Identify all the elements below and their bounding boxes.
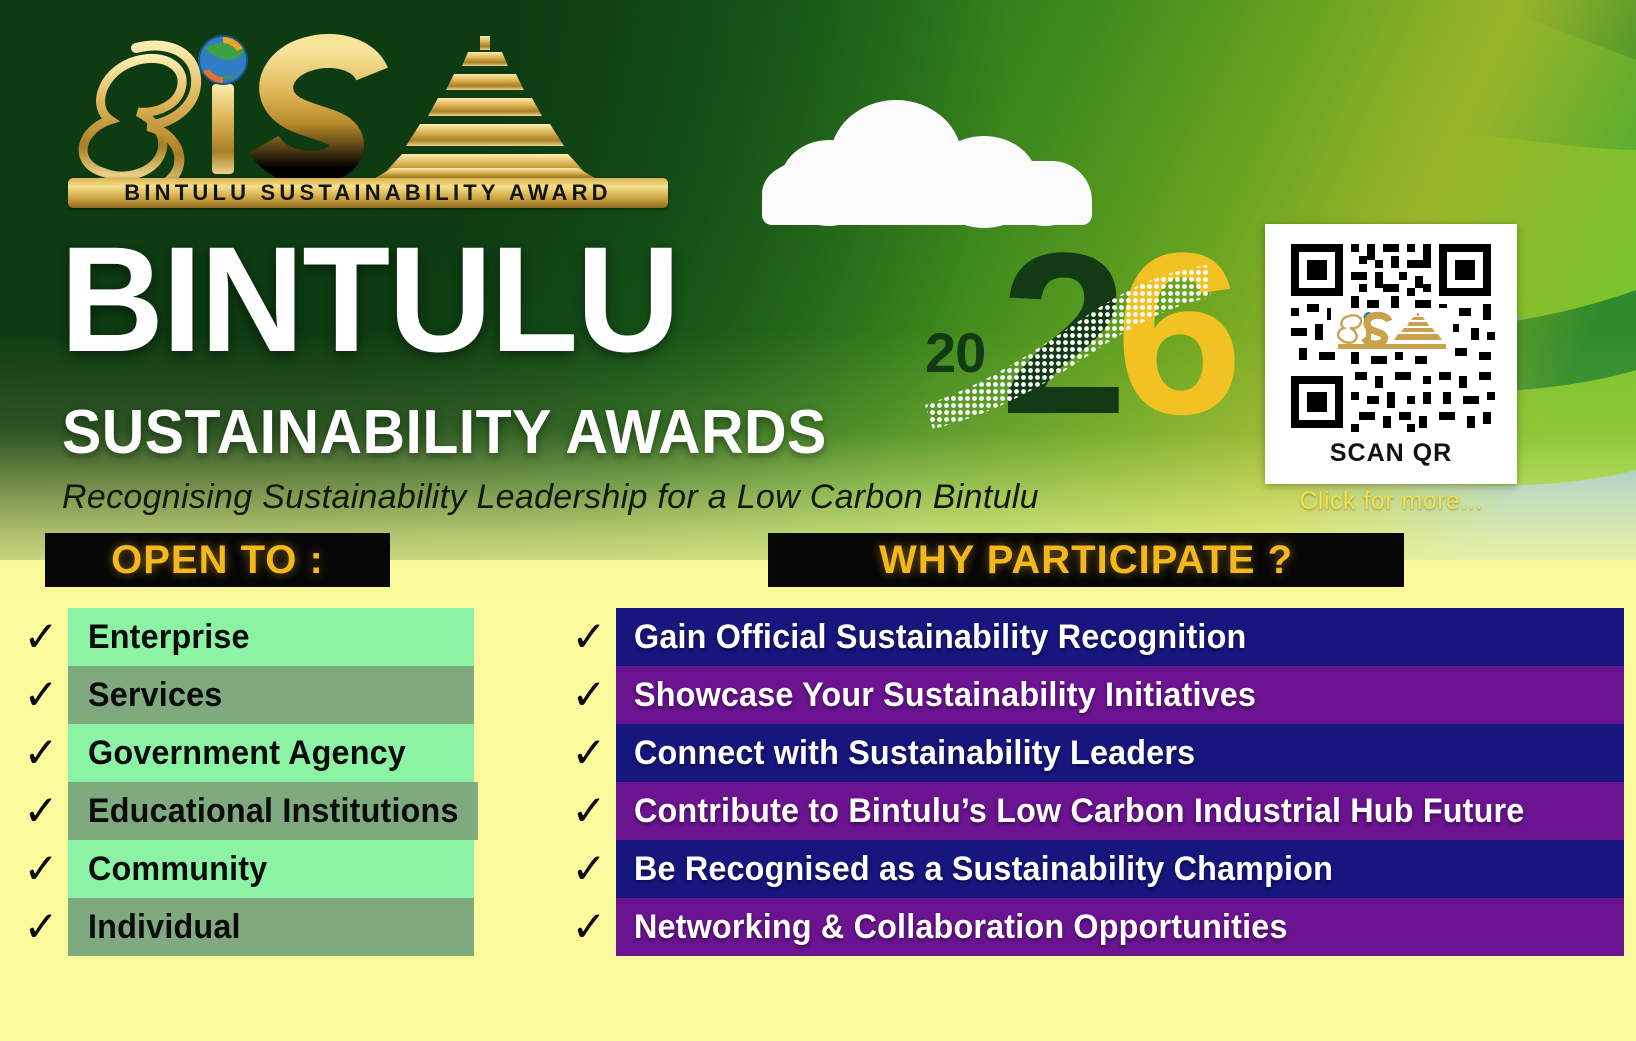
list-item-label: Community bbox=[88, 850, 267, 889]
list-item: ✓ Government Agency bbox=[14, 724, 474, 782]
list-item-bar: Services bbox=[68, 666, 474, 724]
list-item-bar: Showcase Your Sustainability Initiatives bbox=[616, 666, 1624, 724]
list-item: ✓ Enterprise bbox=[14, 608, 474, 666]
list-item-bar: Be Recognised as a Sustainability Champi… bbox=[616, 840, 1624, 898]
open-to-banner: OPEN TO : bbox=[45, 533, 390, 587]
list-item: ✓ Educational Institutions bbox=[14, 782, 474, 840]
open-to-banner-text: OPEN TO : bbox=[111, 538, 324, 583]
list-item-bar: Connect with Sustainability Leaders bbox=[616, 724, 1624, 782]
list-item: ✓ Community bbox=[14, 840, 474, 898]
qr-center-bisa-logo-icon bbox=[1331, 308, 1453, 352]
check-icon: ✓ bbox=[562, 674, 616, 716]
qr-card[interactable]: SCAN QR bbox=[1265, 224, 1517, 484]
list-item: ✓ Connect with Sustainability Leaders bbox=[562, 724, 1624, 782]
check-icon: ✓ bbox=[14, 848, 68, 890]
check-icon: ✓ bbox=[14, 790, 68, 832]
why-participate-list: ✓ Gain Official Sustainability Recogniti… bbox=[562, 608, 1624, 956]
check-icon: ✓ bbox=[14, 616, 68, 658]
list-item-label: Connect with Sustainability Leaders bbox=[634, 734, 1195, 773]
logo-badge: BINTULU SUSTAINABILITY AWARD bbox=[68, 178, 668, 208]
check-icon: ✓ bbox=[14, 732, 68, 774]
scan-qr-label: SCAN QR bbox=[1265, 439, 1517, 468]
halftone-swoosh-decoration bbox=[915, 255, 1215, 445]
list-item-bar: Enterprise bbox=[68, 608, 474, 666]
open-to-list: ✓ Enterprise ✓ Services ✓ Government Age… bbox=[14, 608, 474, 956]
list-item: ✓ Individual bbox=[14, 898, 474, 956]
list-item-label: Individual bbox=[88, 908, 241, 947]
list-item: ✓ Showcase Your Sustainability Initiativ… bbox=[562, 666, 1624, 724]
list-item: ✓ Services bbox=[14, 666, 474, 724]
click-for-more-link[interactable]: Click for more... bbox=[1265, 487, 1517, 516]
check-icon: ✓ bbox=[14, 674, 68, 716]
why-participate-banner-text: WHY PARTICIPATE ? bbox=[879, 538, 1293, 583]
poster-root: BINTULU SUSTAINABILITY AWARD BINTULU SUS… bbox=[0, 0, 1636, 1041]
list-item-bar: Contribute to Bintulu’s Low Carbon Indus… bbox=[616, 782, 1624, 840]
why-participate-banner: WHY PARTICIPATE ? bbox=[768, 533, 1404, 587]
list-item-bar: Government Agency bbox=[68, 724, 474, 782]
list-item-label: Gain Official Sustainability Recognition bbox=[634, 618, 1246, 657]
page-subtitle: SUSTAINABILITY AWARDS bbox=[62, 402, 827, 464]
check-icon: ✓ bbox=[562, 906, 616, 948]
year-2026: 6 2 20 bbox=[915, 235, 1215, 480]
tagline: Recognising Sustainability Leadership fo… bbox=[62, 478, 1039, 517]
list-item-bar: Community bbox=[68, 840, 474, 898]
check-icon: ✓ bbox=[562, 790, 616, 832]
list-item-bar: Networking & Collaboration Opportunities bbox=[616, 898, 1624, 956]
list-item-label: Showcase Your Sustainability Initiatives bbox=[634, 676, 1256, 715]
list-item-label: Be Recognised as a Sustainability Champi… bbox=[634, 850, 1333, 889]
list-item: ✓ Networking & Collaboration Opportuniti… bbox=[562, 898, 1624, 956]
check-icon: ✓ bbox=[562, 616, 616, 658]
check-icon: ✓ bbox=[562, 848, 616, 890]
list-item-label: Enterprise bbox=[88, 618, 250, 657]
page-title: BINTULU bbox=[60, 228, 678, 371]
list-item-label: Educational Institutions bbox=[88, 792, 459, 831]
list-item-label: Contribute to Bintulu’s Low Carbon Indus… bbox=[634, 792, 1524, 831]
logo-badge-text: BINTULU SUSTAINABILITY AWARD bbox=[124, 180, 612, 206]
list-item-bar: Educational Institutions bbox=[68, 782, 478, 840]
check-icon: ✓ bbox=[562, 732, 616, 774]
list-item-label: Services bbox=[88, 676, 222, 715]
list-item-label: Networking & Collaboration Opportunities bbox=[634, 908, 1288, 947]
list-item-label: Government Agency bbox=[88, 734, 406, 773]
list-item-bar: Individual bbox=[68, 898, 474, 956]
list-item: ✓ Gain Official Sustainability Recogniti… bbox=[562, 608, 1624, 666]
list-item: ✓ Be Recognised as a Sustainability Cham… bbox=[562, 840, 1624, 898]
list-item: ✓ Contribute to Bintulu’s Low Carbon Ind… bbox=[562, 782, 1624, 840]
check-icon: ✓ bbox=[14, 906, 68, 948]
list-item-bar: Gain Official Sustainability Recognition bbox=[616, 608, 1624, 666]
